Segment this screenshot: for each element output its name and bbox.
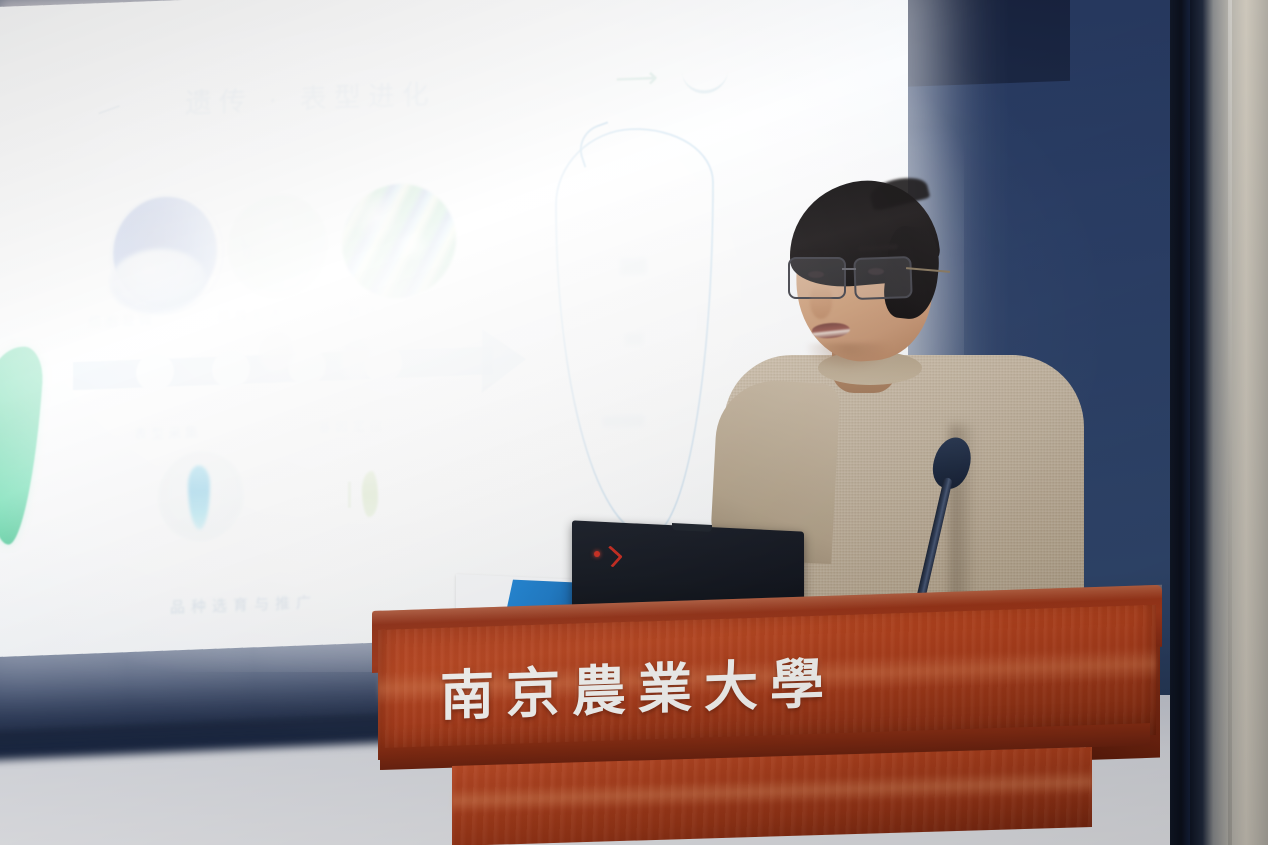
podium-institution-name: 南京農業大學 [440, 638, 870, 748]
slide-pod-inner-text [620, 258, 646, 275]
thinkpad-red-dot-icon [594, 551, 600, 557]
eyeglass-bridge [842, 268, 856, 270]
slide-pod-inner-text [602, 415, 644, 428]
process-arrow-head-icon [482, 327, 526, 393]
arrow-right-icon: ⟶ [615, 60, 658, 97]
column-seam [1228, 0, 1232, 845]
slide-process-label-2: 基因定位 [318, 414, 386, 436]
wall-corner-edge [1170, 0, 1190, 845]
slide-circle-image-2-outline [248, 229, 310, 291]
eyeglass-lens-right [853, 256, 912, 300]
slide-pod-inner-text [625, 333, 643, 346]
slide-circle-label-3: 群体冠层 [348, 299, 416, 321]
presentation-photo: 遗传 · 表型进化 ⟶ 细胞显微 植株形态 群体冠层 表型采集 基因定位 品种选… [0, 0, 1268, 845]
slide-circle-label-1: 细胞显微 [88, 309, 156, 331]
slide-small-tick [348, 482, 351, 508]
slide-small-leaf-graphic [362, 471, 378, 518]
slide-circle-label-2: 植株形态 [218, 304, 286, 326]
speaker-nose [810, 285, 832, 319]
eyeglasses-icon [788, 257, 934, 297]
slide-process-label-1: 表型采集 [134, 421, 202, 443]
eyeglass-temple [906, 267, 950, 273]
speaker-chin-shadow [804, 343, 892, 371]
